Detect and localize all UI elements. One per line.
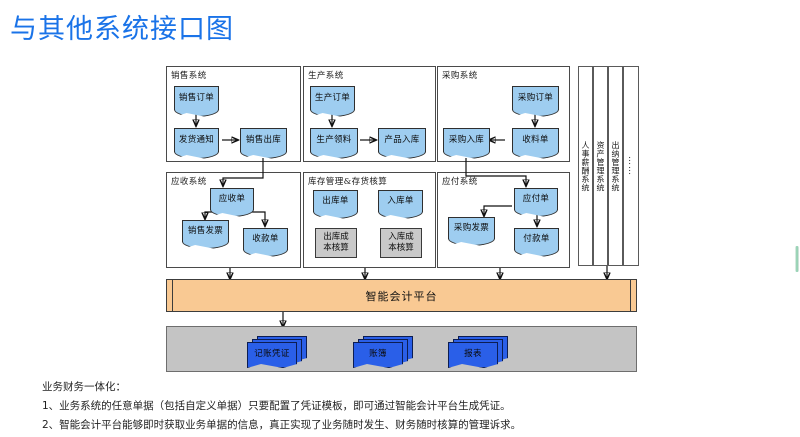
node-label: 出库单 [322, 197, 348, 207]
output-label: 记账凭证 [254, 347, 290, 359]
node-label: 销售发票 [188, 227, 223, 237]
node-receivable-note[interactable]: 应收单 [210, 188, 254, 210]
node-production-pick[interactable]: 生产领料 [310, 128, 358, 152]
node-sales-outbound[interactable]: 销售出库 [240, 128, 287, 152]
platform-label: 智能会计平台 [366, 288, 438, 304]
link-purchase-inbound-to-payable [466, 158, 526, 186]
node-label: 销售出库 [246, 136, 281, 146]
node-inbound-note[interactable]: 入库单 [378, 190, 423, 212]
node-sales-order[interactable]: 销售订单 [174, 86, 219, 110]
node-sales-invoice[interactable]: 销售发票 [182, 220, 229, 242]
output-voucher[interactable]: 记账凭证 [247, 336, 309, 364]
node-label: 生产领料 [316, 136, 351, 146]
node-label: 产品入库 [384, 136, 419, 146]
intelligent-accounting-platform-bar[interactable]: 智能会计平台 [166, 279, 637, 312]
node-payment-note[interactable]: 付款单 [514, 228, 559, 250]
node-receipt-note[interactable]: 收料单 [512, 128, 559, 152]
output-report[interactable]: 报表 [448, 336, 510, 364]
node-label: 收料单 [522, 136, 548, 146]
node-collection-note[interactable]: 收款单 [243, 228, 288, 250]
platform-right-edge [630, 280, 631, 311]
stack-sheet-front: 账簿 [353, 342, 403, 363]
node-production-order[interactable]: 生产订单 [310, 86, 355, 110]
node-purchase-order[interactable]: 采购订单 [512, 86, 559, 110]
node-payable-note[interactable]: 应付单 [514, 188, 558, 210]
node-inbound-cost[interactable]: 入库成 本核算 [380, 228, 422, 258]
node-outbound-cost[interactable]: 出库成 本核算 [315, 228, 357, 258]
platform-left-edge [172, 280, 173, 311]
node-label: 应收单 [219, 195, 245, 205]
node-outbound-note[interactable]: 出库单 [313, 190, 358, 212]
node-label: 生产订单 [315, 94, 350, 104]
node-label: 采购入库 [449, 136, 484, 146]
output-label: 报表 [464, 347, 482, 359]
node-label: 入库单 [387, 197, 413, 207]
link-receivable-to-collection [252, 212, 265, 226]
slide-canvas: 与其他系统接口图 [0, 0, 800, 437]
node-delivery-notice[interactable]: 发货通知 [174, 128, 219, 152]
node-label: 销售订单 [179, 94, 214, 104]
node-label: 采购订单 [518, 94, 553, 104]
stack-sheet-front: 记账凭证 [247, 342, 297, 363]
node-label: 应付单 [523, 195, 549, 205]
output-label: 账簿 [369, 347, 387, 359]
output-ledger[interactable]: 账簿 [353, 336, 415, 364]
node-product-inbound[interactable]: 产品入库 [378, 128, 426, 152]
node-label: 付款单 [523, 235, 549, 245]
node-label: 发货通知 [179, 136, 214, 146]
interface-diagram: 销售系统 销售订单 发货通知 销售出库 生产系统 生产订单 生产领料 产品入库 … [0, 0, 800, 437]
stack-sheet-front: 报表 [448, 342, 498, 363]
node-purchase-inbound[interactable]: 采购入库 [443, 128, 490, 152]
link-outbound-to-receivable [223, 158, 263, 186]
node-label: 采购发票 [454, 224, 489, 234]
node-purchase-invoice[interactable]: 采购发票 [448, 217, 495, 239]
node-label: 收款单 [252, 235, 278, 245]
link-payable-to-purchase-invoice [484, 206, 512, 216]
